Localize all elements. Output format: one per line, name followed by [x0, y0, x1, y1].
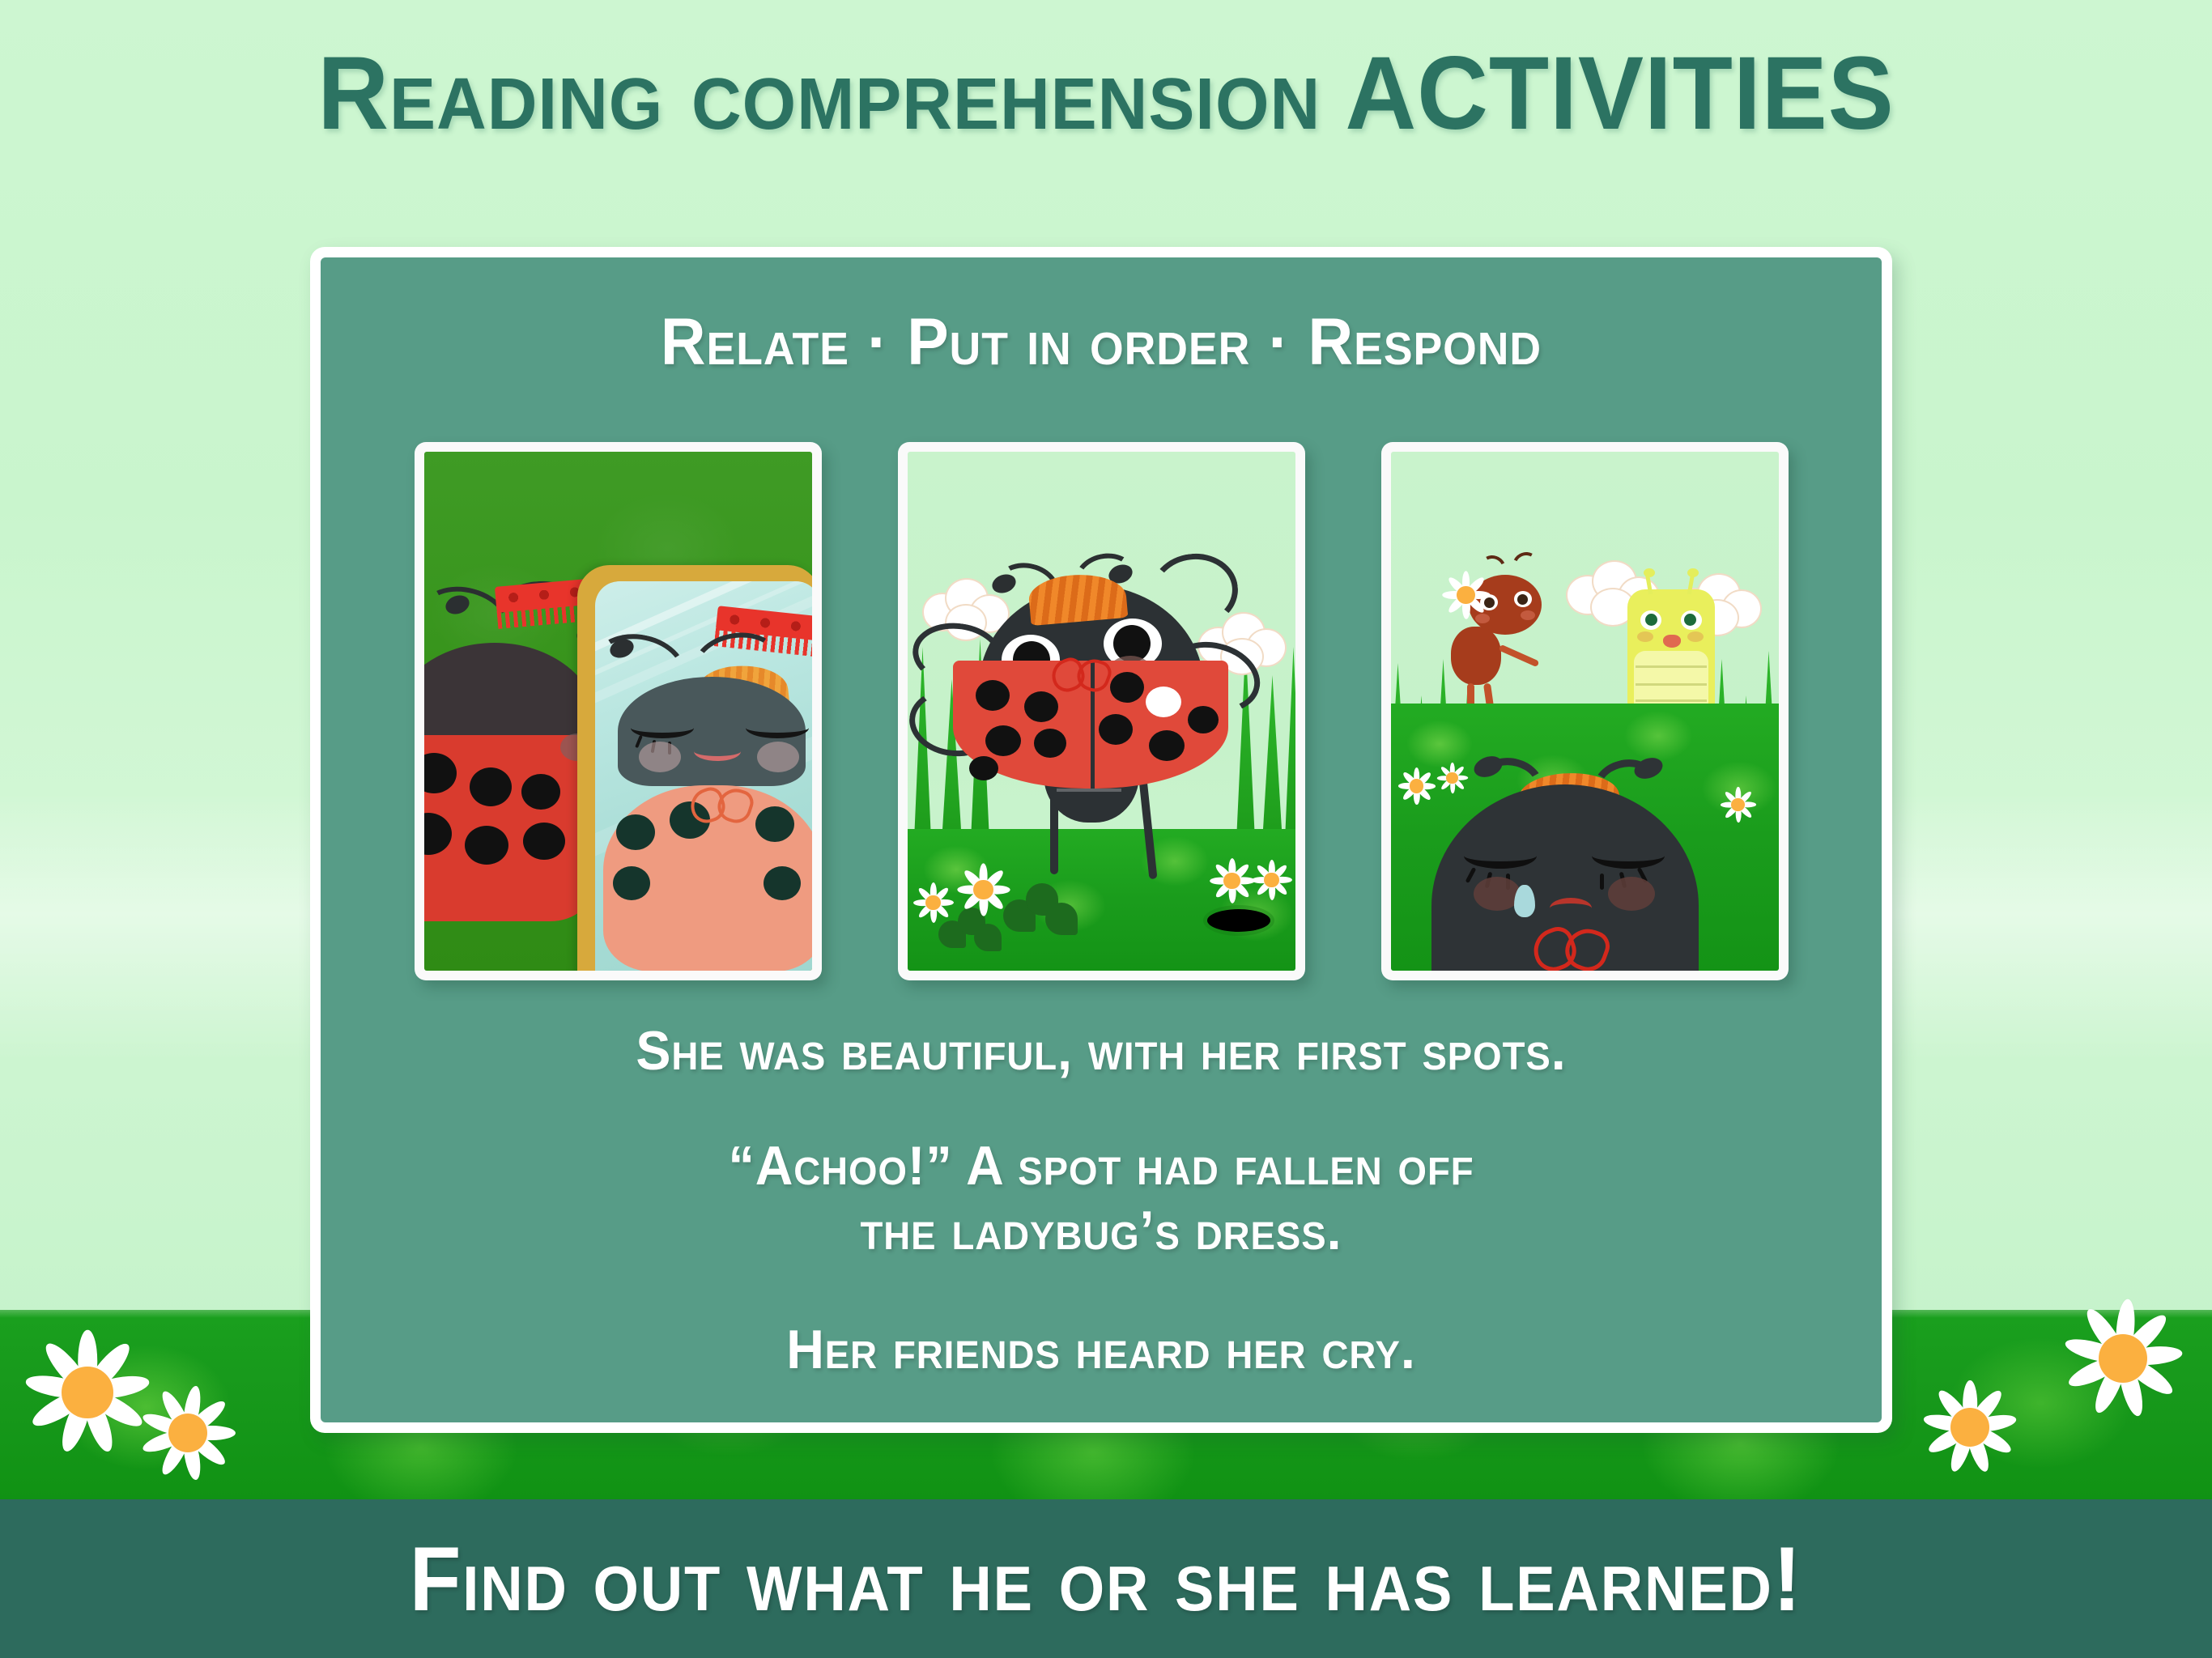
card-inner: Relate · Put in order · Respond — [321, 257, 1882, 1422]
eyelash-icon — [1600, 874, 1604, 890]
daisy-icon — [1251, 859, 1293, 901]
ladybug-bow — [1052, 656, 1110, 691]
ladybug-spot — [1099, 714, 1133, 745]
caterpillar-segment — [1636, 665, 1707, 668]
daisy-icon — [1720, 786, 1757, 823]
caterpillar-segment — [1636, 683, 1707, 686]
ladybug-cheek — [757, 742, 799, 772]
ladybug-smile — [694, 742, 741, 761]
story-panel-1[interactable] — [415, 442, 822, 980]
page-title: Reading comprehension ACTIVITIES — [55, 34, 2156, 153]
story-text: She was beautiful, with her first spots.… — [359, 1018, 1843, 1382]
story-panels — [321, 442, 1882, 980]
ant-cheek — [1521, 610, 1535, 620]
daisy-icon — [1919, 1376, 2021, 1478]
ladybug-bow — [1534, 925, 1608, 967]
ladybug-spot — [521, 774, 560, 810]
ladybug-spot — [985, 725, 1021, 756]
caterpillar-antenna-knob — [1687, 568, 1699, 577]
activities-card: Relate · Put in order · Respond — [310, 247, 1892, 1433]
mirror-frame — [577, 565, 812, 971]
ladybug-cheek — [1608, 877, 1655, 911]
daisy-icon — [1397, 767, 1436, 806]
ladybug-cheek — [1474, 877, 1521, 911]
ant-pupil — [1517, 594, 1528, 605]
story-line-3: Her friends heard her cry. — [359, 1317, 1843, 1382]
tear-drop-icon — [1514, 885, 1535, 917]
caterpillar-mouth — [1663, 635, 1681, 648]
story-line-2: “Achoo!” A spot had fallen off — [359, 1133, 1843, 1198]
ladybug-crying-friends-scene — [1391, 452, 1779, 971]
daisy-icon — [136, 1381, 240, 1485]
story-line-2b: the ladybug’s dress. — [359, 1198, 1843, 1263]
caterpillar-pupil — [1645, 614, 1657, 626]
ladybug-cheek — [639, 742, 681, 772]
ladybug-spot — [1034, 729, 1066, 758]
ladybug-spot — [613, 866, 650, 900]
ladybug-spot — [976, 680, 1010, 711]
ladybug-eye-closed — [746, 717, 809, 738]
ladybug-spot — [1188, 706, 1219, 733]
ladybug-eye-closed — [1592, 843, 1665, 869]
ladybug-spot — [755, 806, 794, 842]
ladybug-spot — [470, 767, 512, 806]
daisy-icon — [2058, 1294, 2188, 1423]
ladybug-spot — [969, 756, 998, 780]
card-subtitle: Relate · Put in order · Respond — [368, 304, 1835, 380]
banner-text: Find out what he or she has learned! — [78, 1499, 2135, 1658]
ladybug-spot — [1149, 730, 1185, 761]
story-panel-2[interactable] — [898, 442, 1305, 980]
ant-thorax — [1451, 627, 1501, 685]
daisy-icon — [19, 1324, 155, 1460]
caterpillar-segment — [1636, 699, 1707, 702]
daisy-icon — [1441, 570, 1491, 620]
ladybug-bow — [691, 785, 752, 823]
missing-spot — [1146, 687, 1181, 717]
ladybug-missing-spot-scene — [908, 452, 1295, 971]
caterpillar-cheek — [1687, 631, 1704, 642]
spot-hole — [1207, 909, 1270, 932]
ladybug-spot — [1024, 691, 1058, 722]
ladybug-spot — [616, 814, 655, 850]
story-line-1: She was beautiful, with her first spots. — [359, 1018, 1843, 1083]
caterpillar-pupil — [1684, 614, 1696, 626]
ladybug-mirror-scene — [424, 452, 812, 971]
ladybug-spot — [465, 826, 508, 865]
ladybug-spot — [1110, 672, 1144, 703]
caterpillar-antenna-knob — [1644, 568, 1655, 577]
story-panel-3[interactable] — [1381, 442, 1789, 980]
daisy-icon — [1209, 857, 1256, 904]
ladybug-mouth-sad — [1550, 898, 1592, 919]
ladybug-spot — [764, 866, 801, 900]
daisy-icon — [1436, 762, 1469, 794]
daisy-icon — [912, 882, 955, 924]
ladybug-spot — [523, 823, 565, 860]
ladybug-eye-closed — [1464, 843, 1537, 869]
poster-root: Reading comprehension ACTIVITIES Relate … — [0, 0, 2212, 1658]
mirror-glass — [595, 581, 812, 971]
caterpillar-cheek — [1637, 631, 1653, 642]
clover-icon — [1003, 883, 1078, 943]
daisy-icon — [956, 862, 1011, 917]
